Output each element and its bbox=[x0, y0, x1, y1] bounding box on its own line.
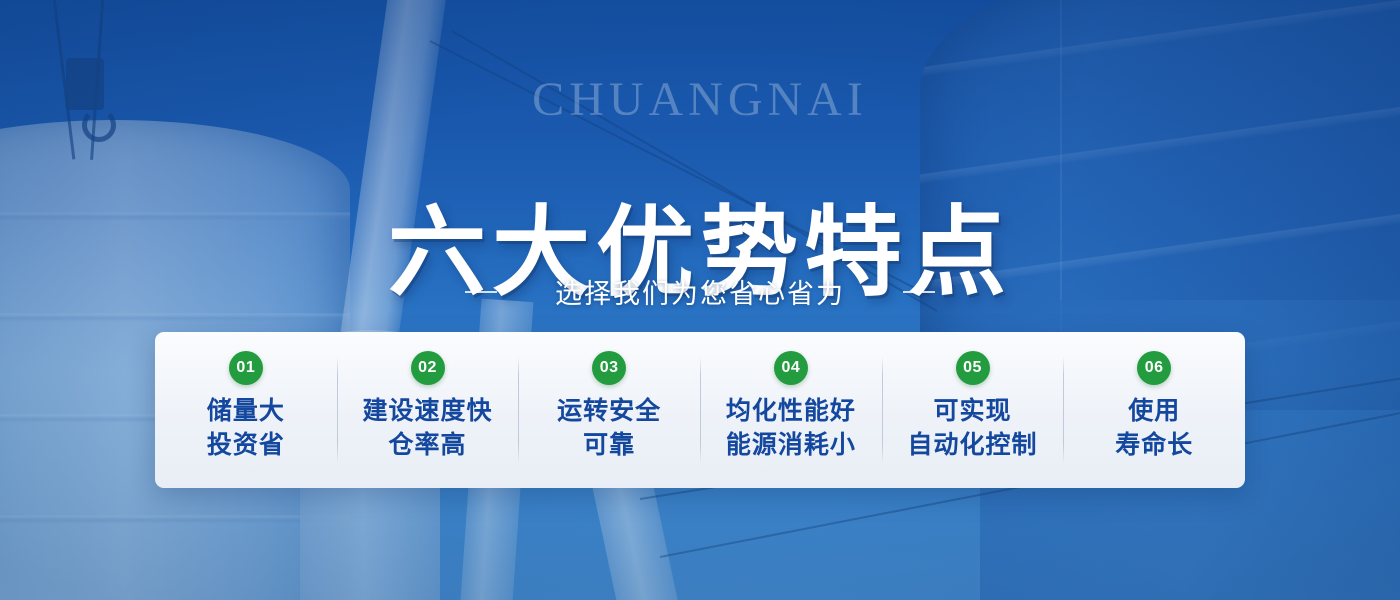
feature-item-05[interactable]: 05 可实现 自动化控制 bbox=[882, 332, 1064, 488]
feature-label: 建设速度快 仓率高 bbox=[363, 395, 493, 462]
feature-label-line1: 可实现 bbox=[934, 397, 1012, 425]
feature-label-line1: 均化性能好 bbox=[726, 397, 856, 425]
feature-label: 可实现 自动化控制 bbox=[908, 395, 1038, 462]
feature-label-line2: 能源消耗小 bbox=[726, 429, 856, 463]
feature-number-badge: 03 bbox=[592, 351, 626, 385]
feature-label-line1: 储量大 bbox=[207, 397, 285, 425]
feature-label-line1: 建设速度快 bbox=[363, 397, 493, 425]
banner-content: CHUANGNAI 六大优势特点 选择我们为您省心省力 01 储量大 投资省 0… bbox=[0, 0, 1400, 600]
feature-item-06[interactable]: 06 使用 寿命长 bbox=[1063, 332, 1245, 488]
feature-number-badge: 02 bbox=[411, 351, 445, 385]
feature-number-badge: 05 bbox=[956, 351, 990, 385]
feature-item-02[interactable]: 02 建设速度快 仓率高 bbox=[337, 332, 519, 488]
page-subtitle: 选择我们为您省心省力 bbox=[555, 272, 845, 311]
feature-label: 运转安全 可靠 bbox=[557, 395, 661, 462]
feature-label: 使用 寿命长 bbox=[1115, 395, 1193, 462]
promo-banner: CHUANGNAI 六大优势特点 选择我们为您省心省力 01 储量大 投资省 0… bbox=[0, 0, 1400, 600]
subtitle-row: 选择我们为您省心省力 bbox=[0, 272, 1400, 311]
feature-label-line2: 投资省 bbox=[207, 429, 285, 463]
feature-label-line1: 使用 bbox=[1128, 397, 1180, 425]
feature-label: 储量大 投资省 bbox=[207, 395, 285, 462]
feature-item-01[interactable]: 01 储量大 投资省 bbox=[155, 332, 337, 488]
feature-label-line2: 自动化控制 bbox=[908, 429, 1038, 463]
feature-number-badge: 04 bbox=[774, 351, 808, 385]
feature-panel: 01 储量大 投资省 02 建设速度快 仓率高 03 运转安全 可靠 bbox=[155, 332, 1245, 488]
feature-label-line2: 寿命长 bbox=[1115, 429, 1193, 463]
subtitle-dash-right bbox=[903, 291, 935, 293]
feature-number-badge: 01 bbox=[229, 351, 263, 385]
feature-number-badge: 06 bbox=[1137, 351, 1171, 385]
subtitle-dash-left bbox=[465, 291, 497, 293]
feature-label-line1: 运转安全 bbox=[557, 397, 661, 425]
feature-label-line2: 可靠 bbox=[557, 429, 661, 463]
feature-item-03[interactable]: 03 运转安全 可靠 bbox=[518, 332, 700, 488]
feature-label: 均化性能好 能源消耗小 bbox=[726, 395, 856, 462]
brand-watermark: CHUANGNAI bbox=[0, 76, 1400, 124]
feature-item-04[interactable]: 04 均化性能好 能源消耗小 bbox=[700, 332, 882, 488]
feature-label-line2: 仓率高 bbox=[363, 429, 493, 463]
